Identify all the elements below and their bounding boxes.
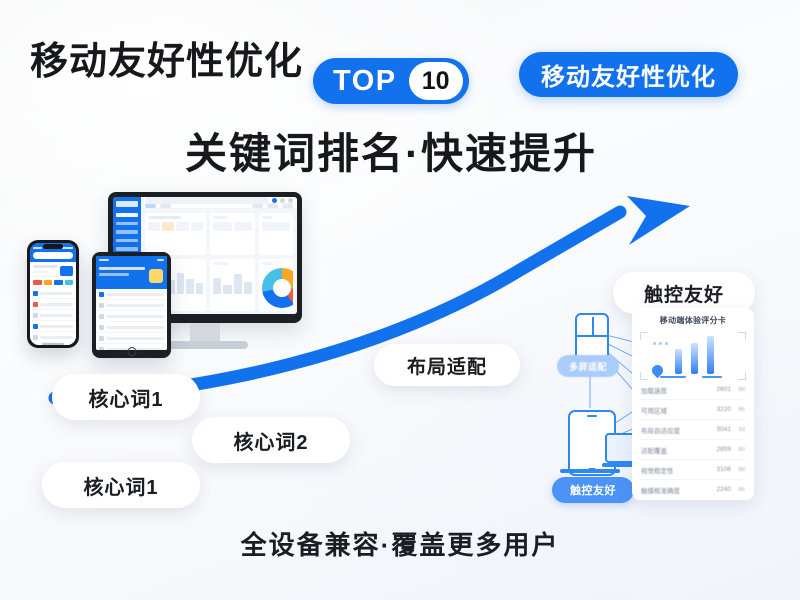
subtitle: 关键词排名·快速提升 xyxy=(185,120,597,181)
list-item[interactable] xyxy=(30,332,76,343)
dashboard-logo xyxy=(116,201,138,207)
top-rank-badge: TOP 10 xyxy=(313,58,469,104)
row-score: 93 xyxy=(735,427,745,433)
row-name: 加载速度 xyxy=(641,385,713,395)
mini-bar-chart xyxy=(656,334,732,374)
sidebar-item[interactable] xyxy=(116,239,138,243)
sidebar-item[interactable] xyxy=(116,213,138,217)
card-title-placeholder xyxy=(262,262,273,265)
dashboard-topbar xyxy=(141,197,297,204)
poster-canvas: 移动友好性优化 TOP 10 移动友好性优化 关键词排名·快速提升 xyxy=(0,0,800,600)
row-value: 3106 xyxy=(717,466,731,473)
score-card-chart xyxy=(640,332,746,380)
row-score: 85 xyxy=(735,487,745,493)
notification-icon[interactable] xyxy=(272,198,277,203)
list-item[interactable] xyxy=(96,322,167,333)
row-score: 95 xyxy=(735,407,745,413)
card-title-placeholder xyxy=(262,216,273,219)
filter-chip[interactable] xyxy=(267,204,278,208)
top-badge-number: 10 xyxy=(409,62,463,100)
notch xyxy=(43,244,63,249)
row-name: 触摸框准确度 xyxy=(641,485,713,495)
page-title: 移动友好性优化 xyxy=(30,30,303,85)
table-row: 触摸框准确度 2240 85 xyxy=(640,480,746,499)
avatar[interactable] xyxy=(288,198,293,203)
home-indicator xyxy=(42,343,64,345)
score-card: 移动端体验评分卡 加载速度 2601 98 可用区域 3220 95 xyxy=(632,308,754,500)
row-score: 98 xyxy=(735,387,745,393)
search-input[interactable] xyxy=(145,197,269,203)
table-row: 加载速度 2601 98 xyxy=(640,380,746,400)
table-row: 布局自适应度 3041 93 xyxy=(640,420,746,440)
mobile-experience-illustration: 多屏适配 触控友好 移动端体验评分卡 加载速度 2601 xyxy=(550,305,790,510)
keyword-pill-3[interactable]: 核心词1 xyxy=(42,462,200,508)
tablet-screen xyxy=(96,256,167,350)
filter-chip[interactable] xyxy=(282,204,293,208)
row-value: 3220 xyxy=(717,406,731,413)
row-score: 88 xyxy=(735,467,745,473)
list-item[interactable] xyxy=(96,333,167,344)
tablet-hero-banner xyxy=(96,263,167,289)
table-row: 可用区域 3220 95 xyxy=(640,400,746,420)
gear-icon[interactable] xyxy=(280,198,285,203)
row-value: 2240 xyxy=(717,486,731,493)
card-title-placeholder xyxy=(213,216,228,219)
list-item[interactable] xyxy=(30,299,76,310)
row-name: 可用区域 xyxy=(641,405,713,415)
monitor-stand xyxy=(190,323,220,343)
phone-screen xyxy=(30,243,76,345)
home-button-icon[interactable] xyxy=(127,347,136,356)
dashboard-card xyxy=(210,259,255,311)
dashboard-card xyxy=(259,213,293,255)
metric-row xyxy=(262,222,290,231)
row-name: 视觉稳定性 xyxy=(641,465,713,475)
illustration-desk-base xyxy=(560,469,620,473)
donut-chart xyxy=(262,268,293,308)
touch-friendly-pill: 触控友好 xyxy=(552,477,634,503)
device-cluster xyxy=(22,192,332,392)
search-input[interactable] xyxy=(33,252,73,259)
table-row: 适配覆盖 2659 90 xyxy=(640,440,746,460)
keyword-pill-1[interactable]: 核心词1 xyxy=(52,374,200,420)
metric-row xyxy=(148,222,203,231)
sidebar-item[interactable] xyxy=(116,247,138,251)
phone-device xyxy=(27,240,79,348)
score-card-title: 移动端体验评分卡 xyxy=(640,315,746,326)
list-item[interactable] xyxy=(96,300,167,311)
table-row: 视觉稳定性 3106 88 xyxy=(640,460,746,480)
list-item[interactable] xyxy=(30,310,76,321)
sidebar-item[interactable] xyxy=(116,230,138,234)
list-item[interactable] xyxy=(96,289,167,300)
row-value: 3041 xyxy=(717,426,731,433)
layout-pill[interactable]: 布局适配 xyxy=(374,344,520,386)
filter-chip[interactable] xyxy=(160,204,171,208)
top-badge-label: TOP xyxy=(333,65,409,98)
row-value: 2601 xyxy=(717,386,731,393)
tablet-header xyxy=(96,256,167,263)
row-name: 适配覆盖 xyxy=(641,445,713,455)
row-value: 2659 xyxy=(717,446,731,453)
metric-row xyxy=(213,222,252,231)
bar-chart xyxy=(213,268,252,294)
dashboard-card xyxy=(259,259,293,311)
tablet-device xyxy=(92,252,171,358)
filter-chip[interactable] xyxy=(145,204,156,208)
category-chips[interactable] xyxy=(30,277,76,288)
list-item[interactable] xyxy=(30,288,76,299)
list-item[interactable] xyxy=(30,321,76,332)
list-item[interactable] xyxy=(96,311,167,322)
row-score: 90 xyxy=(735,447,745,453)
multi-screen-pill: 多屏适配 xyxy=(557,355,619,377)
card-title-placeholder xyxy=(213,262,228,265)
footer-tagline: 全设备兼容·覆盖更多用户 xyxy=(0,525,800,562)
illustration-laptop-icon xyxy=(602,433,636,469)
corner-badge: 移动友好性优化 xyxy=(519,52,738,97)
keyword-pill-2[interactable]: 核心词2 xyxy=(192,417,350,463)
monitor-base xyxy=(162,341,248,349)
phone-result-card[interactable] xyxy=(30,262,76,277)
dashboard-card xyxy=(210,213,255,255)
dashboard-card xyxy=(145,213,206,255)
row-name: 布局自适应度 xyxy=(641,425,713,435)
sidebar-item[interactable] xyxy=(116,222,138,226)
card-title-placeholder xyxy=(148,216,181,219)
status-bar xyxy=(99,259,164,261)
filter-chip[interactable] xyxy=(252,204,263,208)
